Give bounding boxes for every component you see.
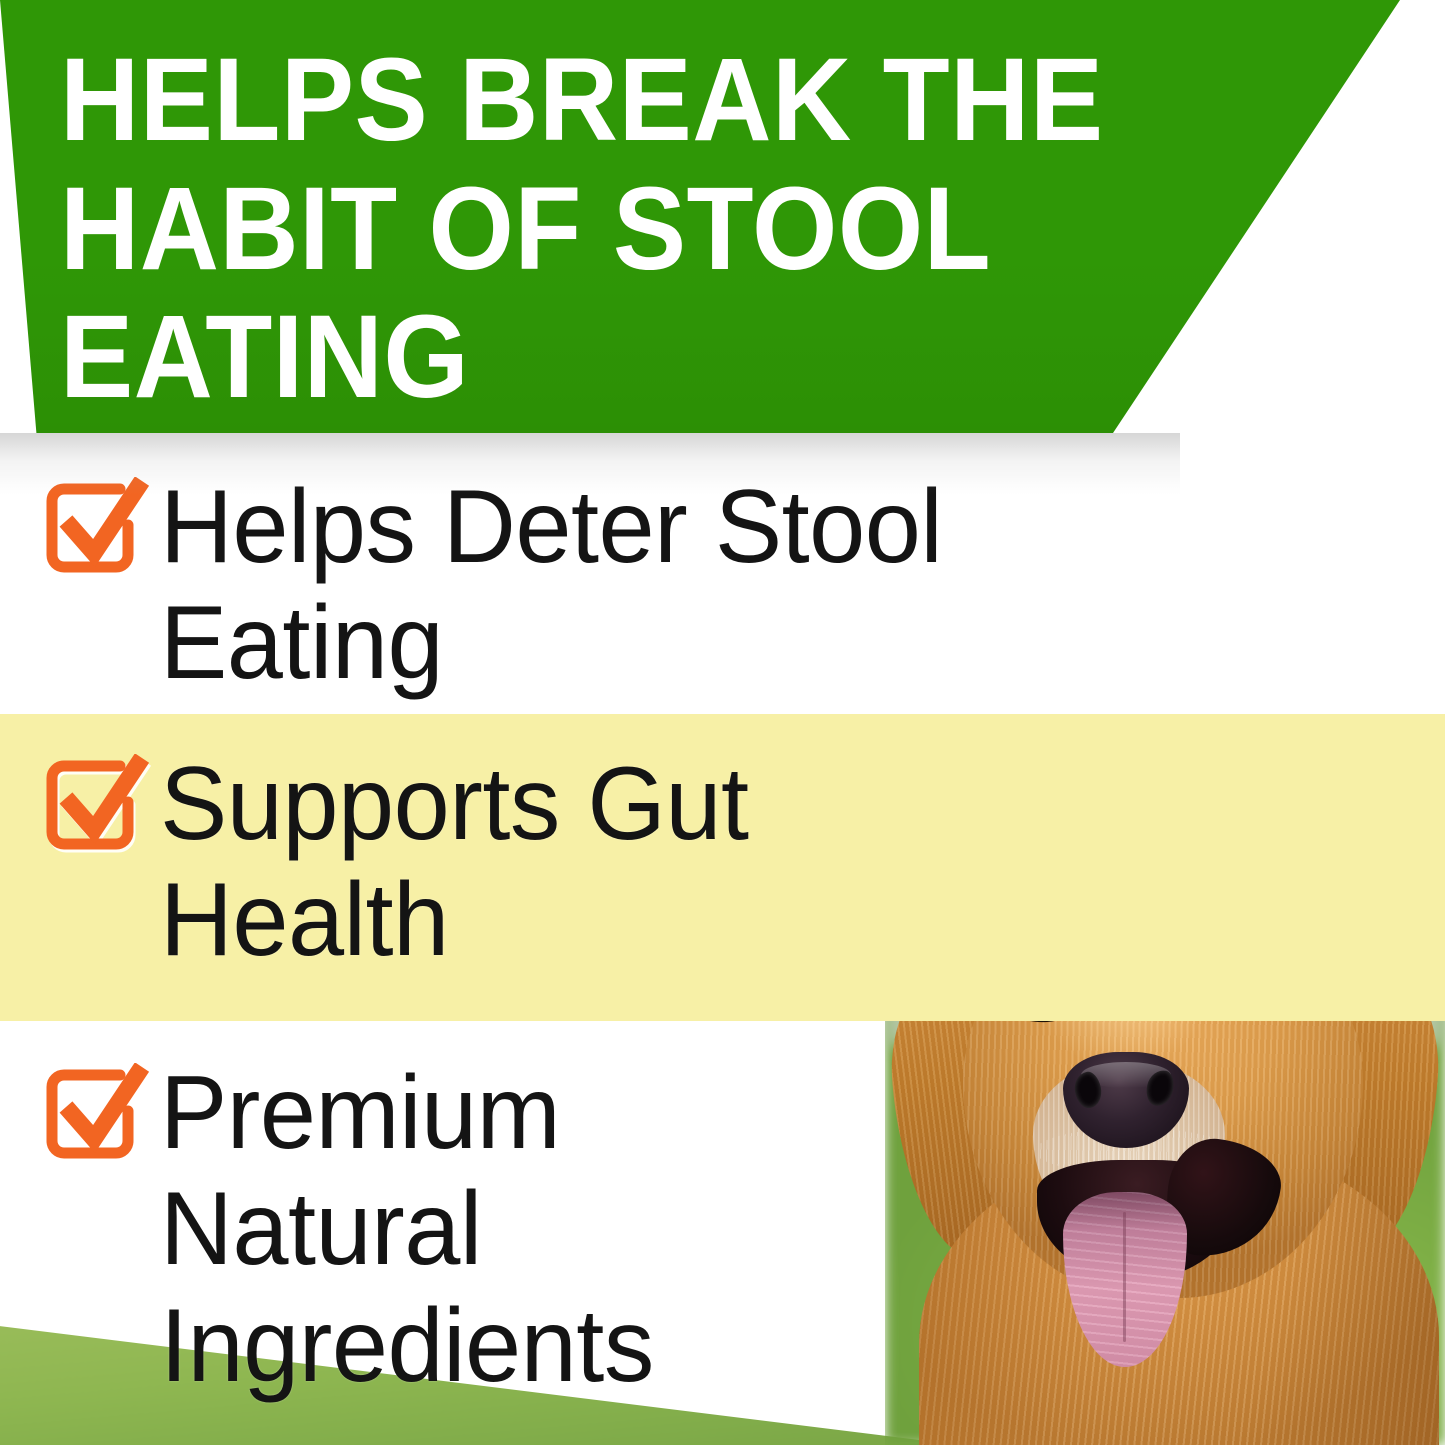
benefit-label-line-3: Ingredients xyxy=(160,1288,965,1404)
benefit-label-premium-natural-ingredients: Premium Natural Ingredients xyxy=(160,1055,965,1404)
benefits-list: Helps Deter Stool Eating Supports Gut He… xyxy=(0,433,1445,1404)
benefit-check-cell xyxy=(0,746,160,858)
benefit-label-deter-stool-eating: Helps Deter Stool Eating xyxy=(160,469,1169,702)
benefit-item-premium-natural-ingredients: Premium Natural Ingredients xyxy=(0,1021,1445,1404)
product-benefits-infographic: HELPS BREAK THE HABIT OF STOOL EATING He… xyxy=(0,0,1445,1445)
orange-checkbox-check-icon xyxy=(42,1063,150,1167)
page-title-line-3: EATING xyxy=(60,293,1241,422)
benefit-item-supports-gut-health: Supports Gut Health xyxy=(0,714,1445,1021)
benefit-label-line-2: Health xyxy=(160,862,1004,978)
benefit-label-line-2: Natural xyxy=(160,1171,965,1287)
benefit-label-line-1: Supports Gut xyxy=(160,746,1004,862)
page-title-line-1: HELPS BREAK THE xyxy=(60,36,1241,165)
header-drop-shadow xyxy=(0,433,1180,495)
benefit-label-supports-gut-health: Supports Gut Health xyxy=(160,746,1004,979)
benefit-check-cell xyxy=(0,1055,160,1167)
orange-checkbox-check-icon xyxy=(42,754,150,858)
page-title: HELPS BREAK THE HABIT OF STOOL EATING xyxy=(60,36,1241,422)
benefit-label-line-2: Eating xyxy=(160,585,1169,701)
benefit-label-line-1: Premium xyxy=(160,1055,965,1171)
page-title-line-2: HABIT OF STOOL xyxy=(60,165,1241,294)
